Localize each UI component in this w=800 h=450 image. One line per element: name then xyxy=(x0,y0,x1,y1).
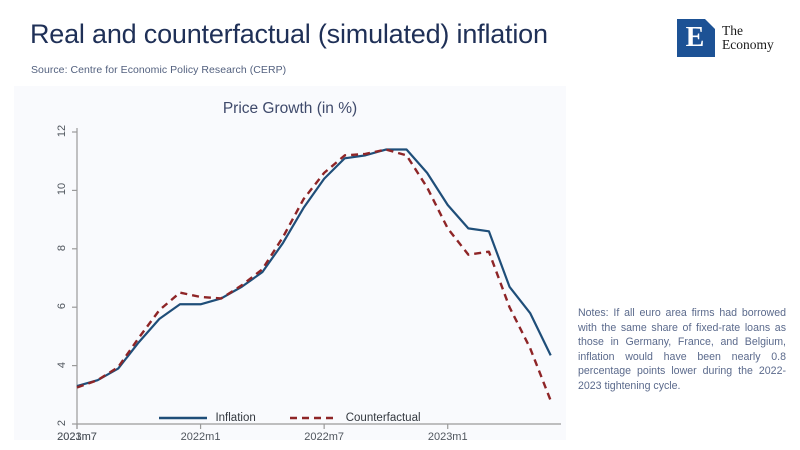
logo-wordmark-line1: The xyxy=(722,24,774,39)
slide-canvas: Real and counterfactual (simulated) infl… xyxy=(0,0,800,450)
x-tick-label: 2022m1 xyxy=(181,431,221,443)
economy-logo-icon: E xyxy=(677,19,715,57)
line-chart-svg xyxy=(59,126,566,440)
y-tick-label: 8 xyxy=(56,240,68,256)
source-caption: Source: Centre for Economic Policy Resea… xyxy=(31,64,286,76)
y-tick-label: 4 xyxy=(56,357,68,373)
x-tick-label: 2023m7 xyxy=(57,431,97,443)
legend-label: Inflation xyxy=(215,412,255,424)
series-line-inflation xyxy=(77,150,551,387)
x-tick-label: 2023m1 xyxy=(428,431,468,443)
page-title: Real and counterfactual (simulated) infl… xyxy=(30,18,670,50)
logo-wordmark-line2: Economy xyxy=(722,38,774,53)
chart-legend: InflationCounterfactual xyxy=(14,412,566,424)
y-tick-label: 12 xyxy=(56,123,68,139)
dashed-line-swatch xyxy=(290,413,338,423)
y-tick-label: 10 xyxy=(56,181,68,197)
economy-logo: E The Economy xyxy=(677,18,781,58)
logo-wordmark: The Economy xyxy=(722,24,774,53)
chart-title: Price Growth (in %) xyxy=(14,100,566,118)
chart-panel: Price Growth (in %) 246810122021m72022m1… xyxy=(14,86,566,440)
y-tick-label: 6 xyxy=(56,298,68,314)
series-line-counterfactual xyxy=(77,150,551,401)
legend-item[interactable]: Counterfactual xyxy=(290,412,421,424)
legend-item[interactable]: Inflation xyxy=(159,412,255,424)
solid-line-swatch xyxy=(159,413,207,423)
legend-label: Counterfactual xyxy=(346,412,421,424)
chart-plot-area: 246810122021m72022m12022m72023m12023m7 xyxy=(59,126,566,440)
x-tick-label: 2022m7 xyxy=(304,431,344,443)
logo-fold-corner xyxy=(705,19,715,29)
notes-text: Notes: If all euro area firms had borrow… xyxy=(578,306,786,394)
